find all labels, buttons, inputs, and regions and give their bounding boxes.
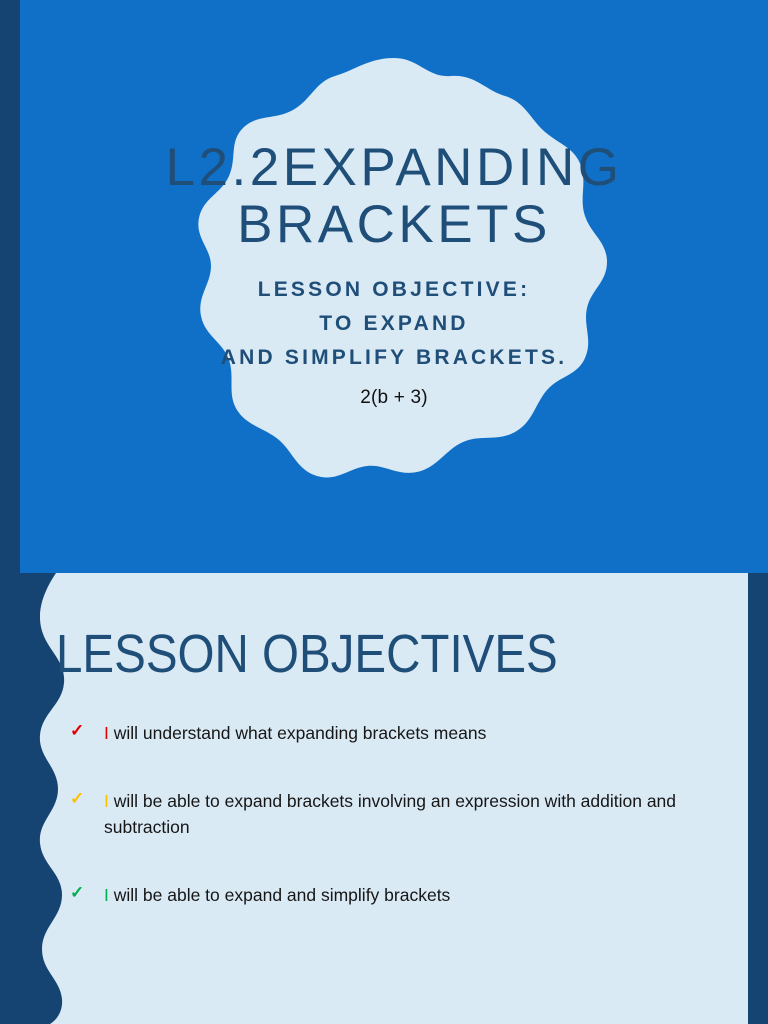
list-item: ✓ I will be able to expand brackets invo… — [70, 789, 730, 840]
check-mark-icon: ✓ — [70, 881, 84, 906]
list-item: ✓ I will be able to expand and simplify … — [70, 883, 730, 908]
subtitle-line-2: To expand — [221, 307, 568, 341]
content-slide-section: Lesson Objectives ✓ I will understand wh… — [0, 573, 768, 1024]
subtitle-line-1: Lesson objective: — [221, 273, 568, 307]
bullet-text: will be able to expand and simplify brac… — [109, 885, 450, 905]
objectives-list: ✓ I will understand what expanding brack… — [70, 721, 730, 909]
title-slide-section: L2.2Expanding Brackets Lesson objective:… — [20, 0, 768, 573]
check-mark-icon: ✓ — [70, 787, 84, 812]
subtitle-line-3: and simplify brackets. — [221, 341, 568, 375]
content-body: Lesson Objectives ✓ I will understand wh… — [0, 573, 768, 1024]
bullet-text: will understand what expanding brackets … — [109, 723, 486, 743]
list-item: ✓ I will understand what expanding brack… — [70, 721, 730, 746]
example-expression: 2(b + 3) — [360, 387, 428, 409]
title-text-block: L2.2Expanding Brackets Lesson objective:… — [20, 56, 768, 492]
page-title: L2.2Expanding Brackets — [84, 139, 704, 253]
check-mark-icon: ✓ — [70, 719, 84, 744]
content-heading: Lesson Objectives — [56, 626, 584, 682]
bullet-text: will be able to expand brackets involvin… — [104, 791, 676, 836]
subtitle-block: Lesson objective: To expand and simplify… — [221, 273, 568, 375]
slide-root: L2.2Expanding Brackets Lesson objective:… — [0, 0, 768, 1024]
